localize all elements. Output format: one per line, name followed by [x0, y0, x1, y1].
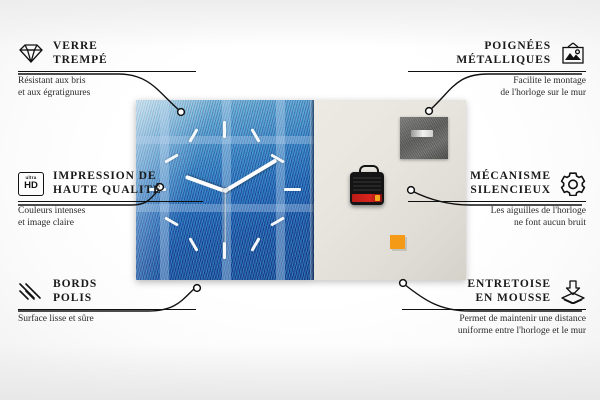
hanger-slot [411, 130, 433, 137]
clock-tick [284, 188, 301, 191]
ultra-hd-icon: ultra HD [18, 172, 44, 196]
feature-title-line1: POIGNÉES [456, 40, 551, 54]
metal-hanger-plate [400, 117, 448, 159]
feature-title-line2: SILENCIEUX [470, 184, 551, 198]
battery [352, 194, 382, 202]
polished-edges-icon [18, 280, 44, 304]
feature-title-line1: ENTRETOISE [467, 278, 551, 292]
gear-icon [560, 172, 586, 196]
feature-desc-line2: de l'horloge sur le mur [408, 88, 586, 100]
feature-impression-haute-qualite[interactable]: ultra HD IMPRESSION DE HAUTE QUALITÉ Cou… [18, 170, 203, 229]
divider [408, 201, 586, 202]
diamond-icon [18, 42, 44, 66]
feature-desc-line2: ne font aucun bruit [408, 218, 586, 230]
clock-second-hand [224, 191, 225, 243]
feature-title-line2: MÉTALLIQUES [456, 54, 551, 68]
clock-minute-hand [224, 158, 277, 192]
feature-desc-line1: Les aiguilles de l'horloge [408, 206, 586, 218]
clock-tick [223, 121, 226, 138]
feature-desc-line2: uniforme entre l'horloge et le mur [402, 326, 586, 338]
feature-desc-line1: Permet de maintenir une distance [402, 314, 586, 326]
feature-title-line1: IMPRESSION DE [53, 170, 162, 184]
feature-title-line2: TREMPÉ [53, 54, 108, 68]
divider [402, 309, 586, 310]
divider [18, 309, 196, 310]
clock-hub [223, 188, 228, 193]
clock-mechanism [350, 172, 384, 205]
feature-desc-line1: Couleurs intenses [18, 206, 203, 218]
ultra-hd-icon-main: HD [24, 181, 38, 191]
feature-title-line1: BORDS [53, 278, 97, 292]
feature-desc-line1: Facilite le montage [408, 76, 586, 88]
feature-desc-line1: Résistant aux bris [18, 76, 196, 88]
divider [18, 71, 196, 72]
infographic-canvas: VERRE TREMPÉ Résistant aux bris et aux é… [0, 0, 600, 400]
foam-spacer-pad [390, 235, 405, 249]
feature-verre-trempe[interactable]: VERRE TREMPÉ Résistant aux bris et aux é… [18, 40, 196, 99]
foam-spacer-icon [560, 280, 586, 304]
feature-desc-line1: Surface lisse et sûre [18, 314, 196, 326]
divider [408, 71, 586, 72]
feature-title-line2: HAUTE QUALITÉ [53, 184, 162, 198]
feature-title-line2: EN MOUSSE [467, 292, 551, 306]
clock-tick [250, 237, 260, 251]
clock-tick [223, 242, 226, 259]
feature-bords-polis[interactable]: BORDS POLIS Surface lisse et sûre [18, 278, 196, 326]
feature-title-line1: MÉCANISME [470, 170, 551, 184]
feature-title-line2: POLIS [53, 292, 97, 306]
feature-title-line1: VERRE [53, 40, 108, 54]
feature-poignees-metalliques[interactable]: POIGNÉES MÉTALLIQUES Facilite le montage… [408, 40, 586, 99]
feature-desc-line2: et aux égratignures [18, 88, 196, 100]
mechanism-body [353, 175, 381, 191]
divider [18, 201, 203, 202]
hanging-frame-icon [560, 42, 586, 66]
feature-mecanisme-silencieux[interactable]: MÉCANISME SILENCIEUX Les aiguilles de l'… [408, 170, 586, 229]
feature-entretoise-en-mousse[interactable]: ENTRETOISE EN MOUSSE Permet de maintenir… [402, 278, 586, 337]
feature-desc-line2: et image claire [18, 218, 203, 230]
